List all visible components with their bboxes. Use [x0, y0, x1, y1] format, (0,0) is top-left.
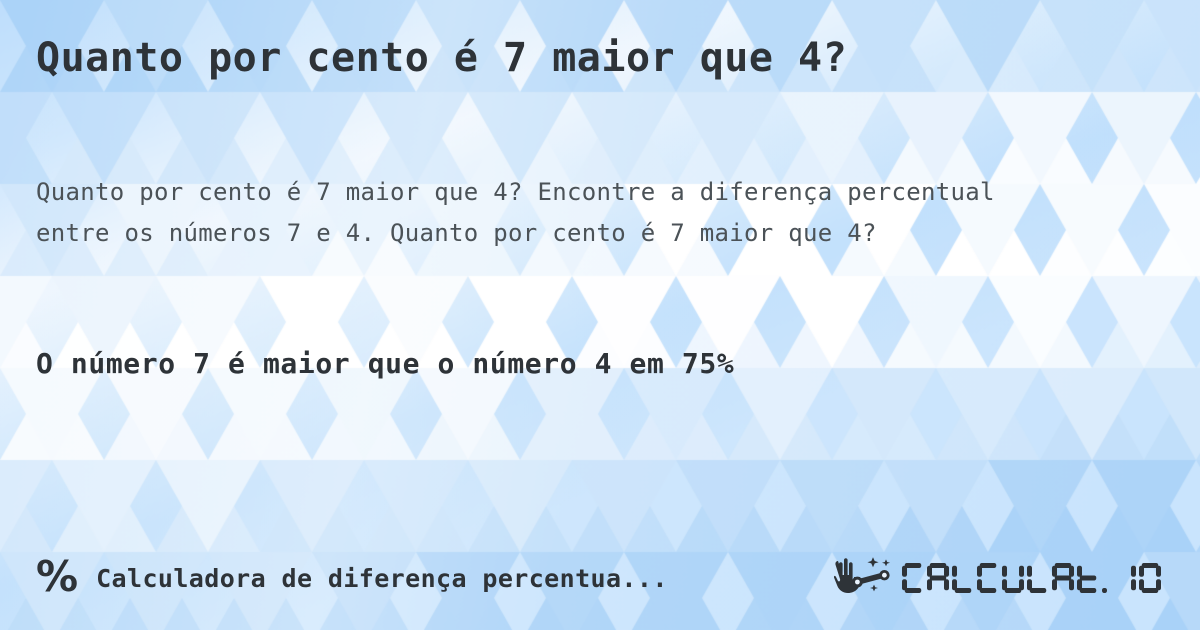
percent-icon: %: [36, 556, 78, 598]
footer-left: % Calculadora de diferença percentua...: [36, 557, 834, 599]
intro-paragraph: Quanto por cento é 7 maior que 4? Encont…: [36, 172, 1076, 254]
page-title: Quanto por cento é 7 maior que 4?: [36, 32, 1164, 84]
footer-calculator-label: Calculadora de diferença percentua...: [96, 564, 668, 593]
footer: % Calculadora de diferença percentua...: [0, 552, 1200, 604]
magic-wand-hand-icon: [834, 555, 896, 601]
share-card: Quanto por cento é 7 maior que 4? Quanto…: [0, 0, 1200, 630]
brand-wordmark: [902, 558, 1164, 598]
brand-logo[interactable]: [834, 555, 1164, 601]
answer-statement: O número 7 é maior que o número 4 em 75%: [36, 345, 1164, 383]
